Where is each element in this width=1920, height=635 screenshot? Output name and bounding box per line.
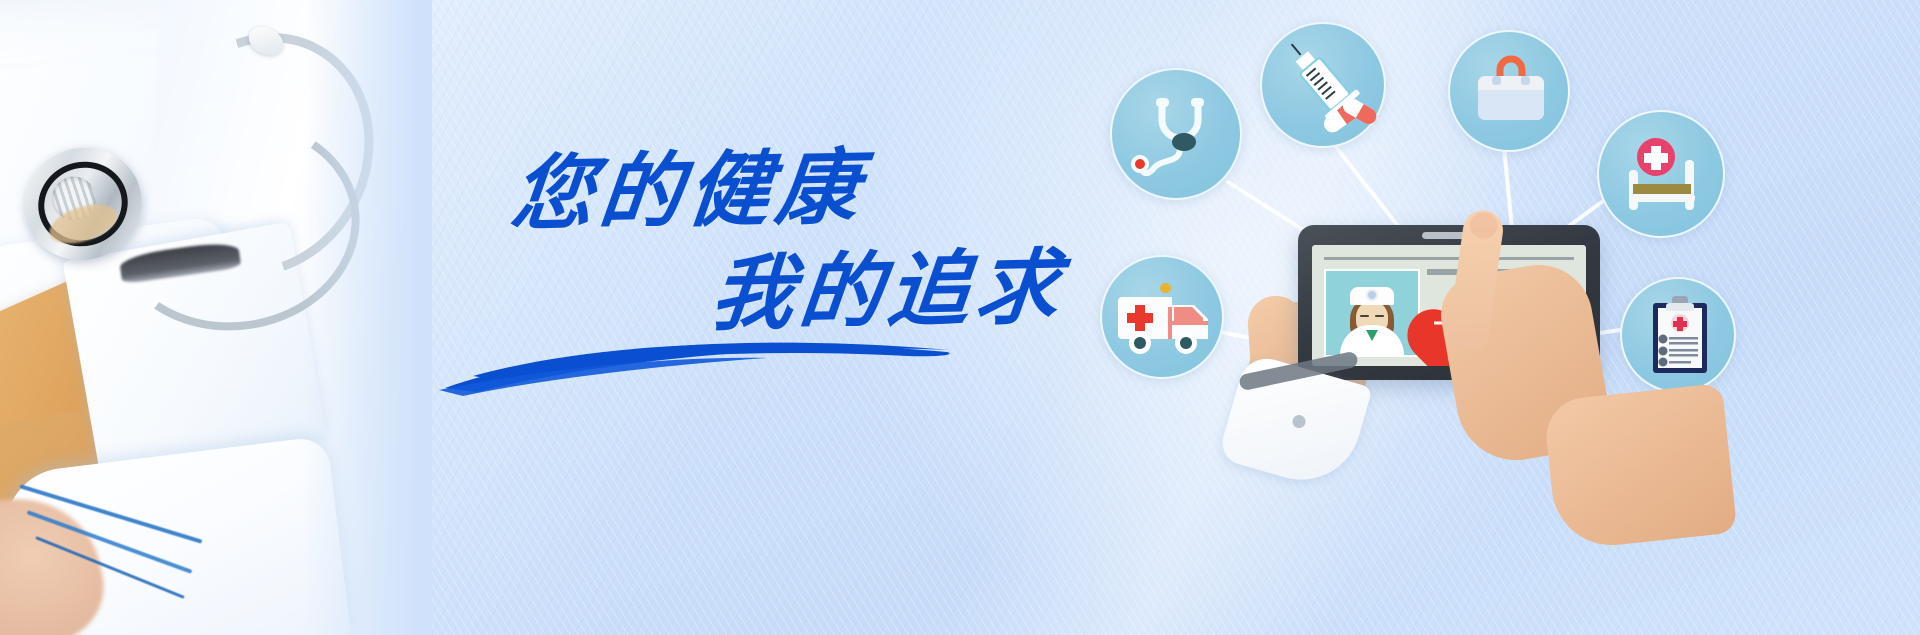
headline-swoosh <box>437 330 957 400</box>
healthcare-hero-banner: 您的健康 我的追求 <box>0 0 1920 635</box>
bubble-syringe[interactable] <box>1260 22 1386 148</box>
right-forearm <box>1543 383 1738 551</box>
screen-divider <box>1324 257 1574 260</box>
medical-bag-icon <box>1450 32 1572 154</box>
doctor-photo <box>0 0 432 635</box>
nurse-collar <box>1366 330 1378 341</box>
ambulance-icon <box>1102 257 1226 381</box>
syringe-icon <box>1262 24 1388 150</box>
bubble-ambulance[interactable] <box>1100 255 1224 379</box>
nurse-cap-badge <box>1366 289 1378 301</box>
bubble-stethoscope[interactable] <box>1110 68 1242 200</box>
nurse-portrait <box>1324 269 1420 357</box>
hospital-bed-icon <box>1599 112 1727 240</box>
bubble-medical-bag[interactable] <box>1448 30 1570 152</box>
headline-line-2: 我的追求 <box>707 246 1068 335</box>
bubble-hospital-bed[interactable] <box>1597 110 1725 238</box>
headline-block: 您的健康 我的追求 <box>512 150 1072 400</box>
fingertip <box>1468 211 1499 241</box>
stethoscope-icon <box>1112 70 1244 202</box>
clipboard-icon <box>1622 279 1738 395</box>
headline-line-1: 您的健康 <box>507 146 868 235</box>
nurse-eye <box>1375 315 1384 317</box>
bubble-clipboard[interactable] <box>1620 277 1736 393</box>
cuff-button <box>1291 414 1307 430</box>
nurse-eye <box>1360 315 1369 317</box>
medical-illustration <box>1080 0 1920 635</box>
